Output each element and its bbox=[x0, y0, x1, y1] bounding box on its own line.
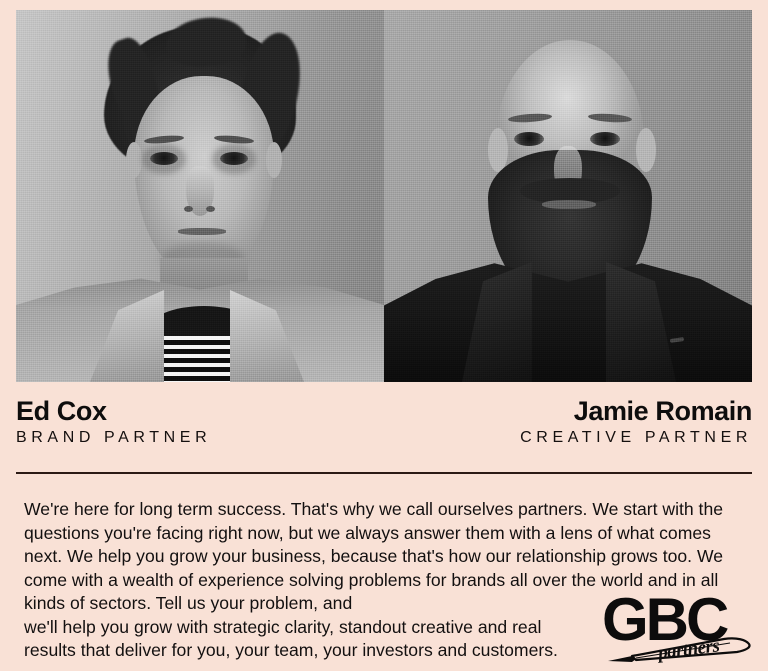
person-card-ed-cox: Ed Cox BRAND PARTNER bbox=[16, 398, 211, 447]
nostril bbox=[206, 206, 215, 212]
ear bbox=[266, 142, 282, 178]
portrait-pair bbox=[16, 10, 752, 382]
person-role: CREATIVE PARTNER bbox=[520, 429, 752, 447]
eye bbox=[514, 132, 544, 146]
person-role: BRAND PARTNER bbox=[16, 429, 211, 447]
ear bbox=[126, 142, 142, 178]
portrait-ed-cox bbox=[16, 10, 384, 382]
horizontal-divider bbox=[16, 472, 752, 474]
portrait-jamie-romain bbox=[384, 10, 752, 382]
gbc-logo: GBC partners bbox=[602, 591, 754, 669]
mouth bbox=[178, 228, 226, 235]
eye bbox=[220, 152, 248, 165]
mouth bbox=[542, 200, 596, 209]
eye bbox=[150, 152, 178, 165]
person-card-jamie-romain: Jamie Romain CREATIVE PARTNER bbox=[520, 398, 752, 447]
ear bbox=[636, 128, 656, 172]
names-row: Ed Cox BRAND PARTNER Jamie Romain CREATI… bbox=[16, 398, 752, 447]
person-name: Jamie Romain bbox=[520, 398, 752, 425]
eye bbox=[590, 132, 620, 146]
person-name: Ed Cox bbox=[16, 398, 211, 425]
nostril bbox=[184, 206, 193, 212]
partners-card: Ed Cox BRAND PARTNER Jamie Romain CREATI… bbox=[0, 0, 768, 671]
